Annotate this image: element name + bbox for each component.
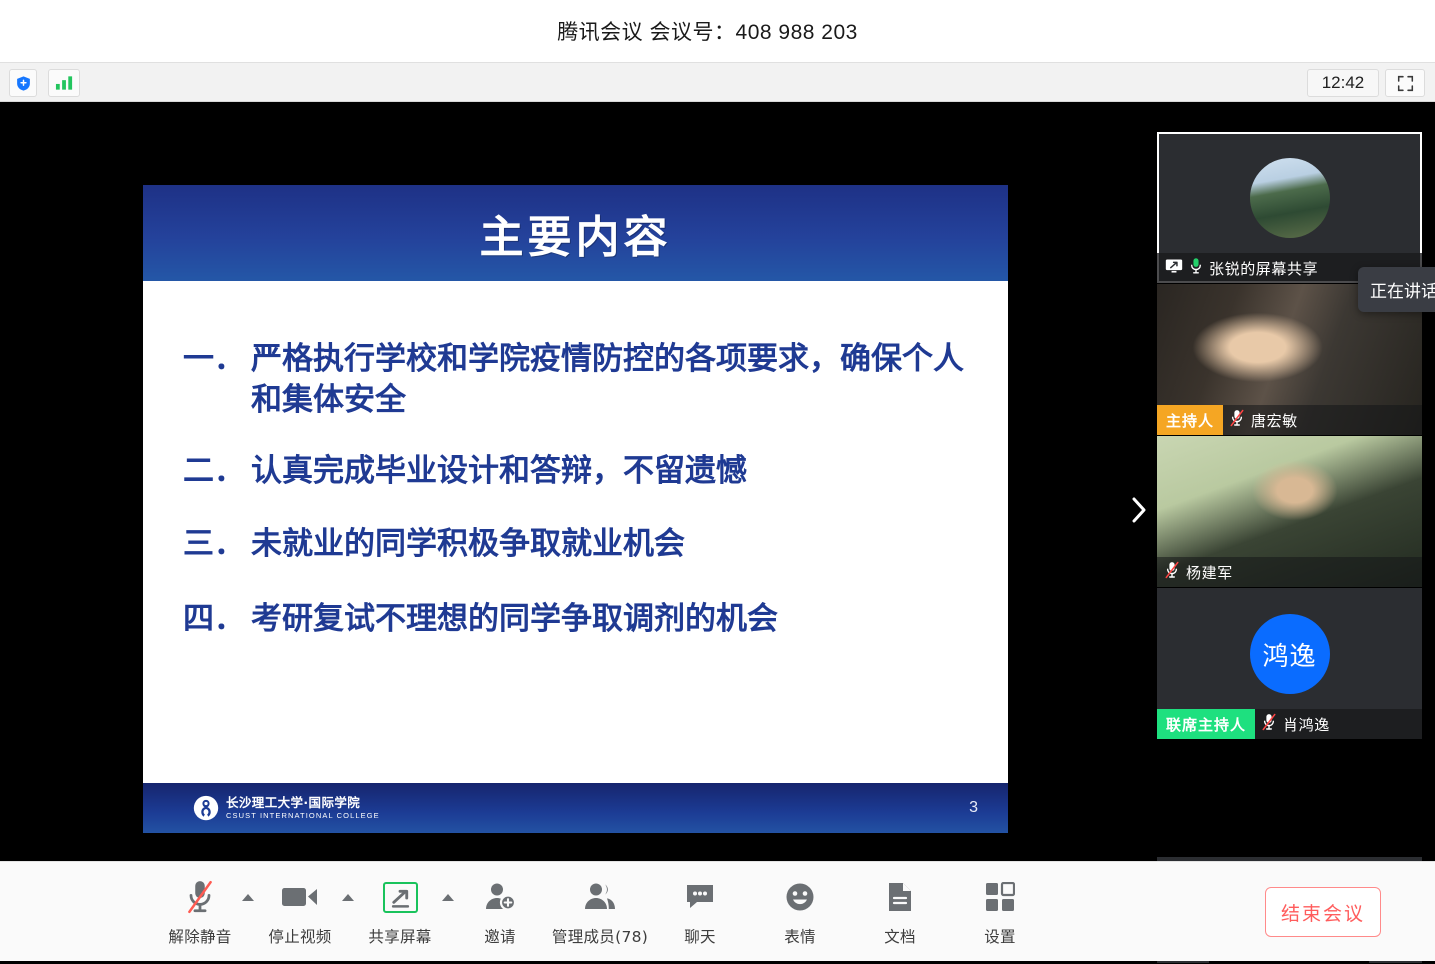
meeting-stage: 主要内容 一． 严格执行学校和学院疫情防控的各项要求，确保个人和集体安全 二． … [0, 102, 1435, 861]
share-screen-icon [383, 876, 418, 918]
control-label: 文档 [884, 925, 916, 947]
bullet-number: 四． [183, 599, 245, 640]
meeting-controls-bar: 解除静音 停止视频 [0, 861, 1435, 961]
control-label: 管理成员(78) [552, 925, 648, 947]
control-label: 共享屏幕 [368, 925, 431, 947]
participant-name: 肖鸿逸 [1283, 714, 1330, 735]
control-label: 表情 [784, 925, 816, 947]
avatar-initials: 鸿逸 [1262, 636, 1316, 673]
participant-name: 唐宏敏 [1251, 410, 1298, 431]
smiley-icon [785, 876, 815, 918]
shared-slide[interactable]: 主要内容 一． 严格执行学校和学院疫情防控的各项要求，确保个人和集体安全 二． … [143, 185, 1008, 833]
mic-muted-icon [1230, 409, 1244, 432]
participant-tile[interactable]: 张锐的屏幕共享 [1157, 132, 1422, 283]
host-badge: 主持人 [1157, 405, 1223, 435]
control-label: 聊天 [684, 925, 716, 947]
slide-body: 一． 严格执行学校和学院疫情防控的各项要求，确保个人和集体安全 二． 认真完成毕… [143, 281, 1008, 783]
bullet-text: 认真完成毕业设计和答辩，不留遗憾 [251, 451, 982, 492]
mic-muted-icon [1262, 713, 1276, 736]
avatar: 鸿逸 [1250, 614, 1330, 694]
people-icon [583, 876, 617, 918]
control-label: 停止视频 [268, 925, 331, 947]
document-button[interactable]: 文档 [850, 876, 950, 947]
bullet-number: 二． [183, 451, 245, 492]
manage-members-button[interactable]: 管理成员(78) [550, 876, 650, 947]
participant-rail[interactable]: 张锐的屏幕共享 主持人 唐宏敏 [1157, 132, 1422, 740]
screen-share-icon [1165, 258, 1183, 279]
document-icon [887, 876, 913, 918]
clock-time: 12:42 [1307, 69, 1379, 97]
tile-status-bar: 主持人 唐宏敏 [1157, 405, 1422, 435]
slide-header: 主要内容 [143, 185, 1008, 281]
control-label: 邀请 [484, 925, 516, 947]
slide-bullet: 一． 严格执行学校和学院疫情防控的各项要求，确保个人和集体安全 [183, 339, 982, 421]
settings-button[interactable]: 设置 [950, 876, 1050, 947]
browser-chrome-bar: 12:42 [0, 62, 1435, 102]
shield-plus-icon[interactable] [9, 69, 37, 97]
tile-status-bar: 联席主持人 肖鸿逸 [1157, 709, 1422, 739]
mic-muted-icon [1165, 561, 1179, 584]
chat-button[interactable]: 聊天 [650, 876, 750, 947]
bullet-text: 严格执行学校和学院疫情防控的各项要求，确保个人和集体安全 [251, 339, 982, 421]
bullet-text: 考研复试不理想的同学争取调剂的机会 [251, 599, 982, 640]
chevron-right-icon[interactable] [1125, 490, 1153, 530]
slide-bullet: 二． 认真完成毕业设计和答辩，不留遗憾 [183, 451, 982, 492]
slide-bullet: 三． 未就业的同学积极争取就业机会 [183, 524, 982, 565]
window-title-bar: 腾讯会议 会议号：408 988 203 [0, 0, 1435, 62]
control-label: 解除静音 [168, 925, 231, 947]
person-add-icon [484, 876, 516, 918]
bullet-number: 三． [183, 524, 245, 565]
bullet-number: 一． [183, 339, 245, 380]
meeting-title: 腾讯会议 会议号：408 988 203 [0, 0, 1435, 62]
control-label: 设置 [984, 925, 1016, 947]
avatar [1250, 158, 1330, 238]
emoji-button[interactable]: 表情 [750, 876, 850, 947]
slide-bullet: 四． 考研复试不理想的同学争取调剂的机会 [183, 599, 982, 640]
logo-text-cn: 长沙理工大学·国际学院 [226, 797, 380, 810]
csust-logo-icon [193, 795, 219, 821]
stop-video-button[interactable]: 停止视频 [250, 876, 350, 947]
mic-muted-icon [185, 876, 215, 918]
unmute-button[interactable]: 解除静音 [150, 876, 250, 947]
slide-footer: 长沙理工大学·国际学院 CSUST INTERNATIONAL COLLEGE … [143, 783, 1008, 833]
share-screen-button[interactable]: 共享屏幕 [350, 876, 450, 947]
invite-button[interactable]: 邀请 [450, 876, 550, 947]
logo-text-en: CSUST INTERNATIONAL COLLEGE [226, 812, 380, 820]
fullscreen-icon[interactable] [1385, 69, 1425, 97]
university-logo: 长沙理工大学·国际学院 CSUST INTERNATIONAL COLLEGE [193, 795, 380, 821]
slide-page-number: 3 [969, 799, 978, 817]
cohost-badge: 联席主持人 [1157, 709, 1255, 739]
speaking-tooltip: 正在讲话 [1358, 267, 1435, 312]
participant-name: 张锐的屏幕共享 [1209, 258, 1318, 279]
end-meeting-button[interactable]: 结束会议 [1265, 887, 1381, 937]
signal-bars-icon[interactable] [48, 69, 80, 97]
chat-bubble-icon [684, 876, 716, 918]
participant-tile[interactable]: 鸿逸 联席主持人 肖鸿逸 [1157, 588, 1422, 739]
grid-squares-icon [985, 876, 1015, 918]
tile-status-bar: 杨建军 [1157, 557, 1422, 587]
slide-title: 主要内容 [480, 201, 672, 265]
participant-tile[interactable]: 杨建军 [1157, 436, 1422, 587]
bullet-text: 未就业的同学积极争取就业机会 [251, 524, 982, 565]
camera-icon [281, 876, 319, 918]
mic-on-icon [1190, 257, 1202, 280]
participant-name: 杨建军 [1186, 562, 1233, 583]
